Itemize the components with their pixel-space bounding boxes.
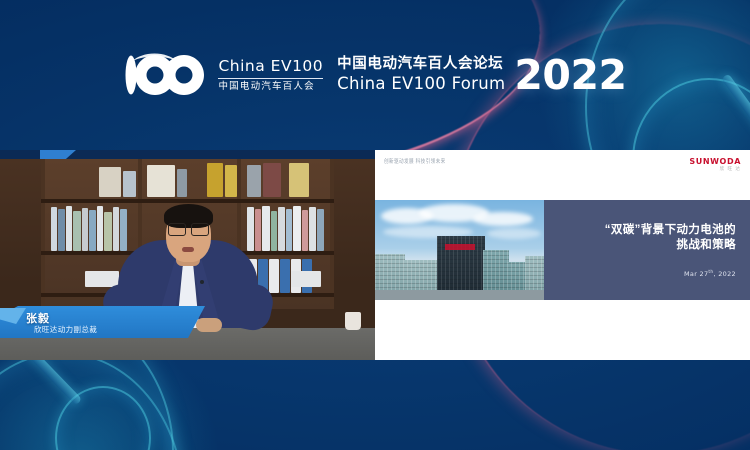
- eyeglasses-icon: [168, 223, 209, 234]
- event-title-chinese: 中国电动汽车百人会论坛: [337, 57, 505, 73]
- event-banner: China EV100 中国电动汽车百人会 中国电动汽车百人会论坛 China …: [0, 0, 750, 150]
- slide-header: 创新驱动发展 科技引领未来 SUNWODA 欣 旺 达: [375, 150, 750, 200]
- presentation-slide[interactable]: 创新驱动发展 科技引领未来 SUNWODA 欣 旺 达: [375, 150, 750, 360]
- headquarters-photo: [375, 200, 544, 300]
- slide-body: “双碳”背景下动力电池的 挑战和策略 Mar 27th, 2022: [375, 200, 750, 300]
- slide-kicker-text: 创新驱动发展 科技引领未来: [384, 158, 446, 166]
- logo-chinese-text: 中国电动汽车百人会: [218, 82, 323, 92]
- camera-strip-chevron: [40, 150, 76, 159]
- sunwoda-wordmark: SUNWODA: [689, 158, 741, 166]
- slide-title-line1: “双碳”背景下动力电池的: [605, 223, 736, 237]
- camera-scene: 张毅 欣旺达动力副总裁: [0, 159, 375, 360]
- speaker-nameplate: 张毅 欣旺达动力副总裁: [0, 306, 205, 338]
- slide-date-year: , 2022: [714, 270, 736, 278]
- china-ev100-infinity-logo-icon: [123, 52, 209, 98]
- sunwoda-logo: SUNWODA 欣 旺 达: [689, 158, 741, 172]
- slide-footer: [375, 300, 750, 360]
- camera-top-strip: [0, 150, 375, 159]
- sunwoda-chinese-name: 欣 旺 达: [689, 166, 741, 172]
- slide-title-line2: 挑战和策略: [677, 238, 737, 252]
- slide-date: Mar 27th, 2022: [684, 270, 736, 278]
- logo-divider: [218, 78, 323, 79]
- logo-english-text: China EV100: [218, 59, 323, 75]
- china-ev100-logo: China EV100 中国电动汽车百人会: [123, 52, 323, 98]
- broadcast-stage: China EV100 中国电动汽车百人会 中国电动汽车百人会论坛 China …: [0, 0, 750, 450]
- event-year: 2022: [514, 56, 626, 95]
- event-title-block: 中国电动汽车百人会论坛 China EV100 Forum 2022: [337, 56, 626, 95]
- slide-title-pane: “双碳”背景下动力电池的 挑战和策略 Mar 27th, 2022: [544, 200, 750, 300]
- event-title-english: China EV100 Forum: [337, 75, 505, 93]
- speaker-role: 欣旺达动力副总裁: [34, 324, 97, 335]
- slide-date-month-day: Mar 27: [684, 270, 708, 278]
- speaker-camera-feed[interactable]: 张毅 欣旺达动力副总裁: [0, 150, 375, 360]
- video-row: 张毅 欣旺达动力副总裁 创新驱动发展 科技引领未来 SUNWODA 欣 旺 达: [0, 150, 750, 360]
